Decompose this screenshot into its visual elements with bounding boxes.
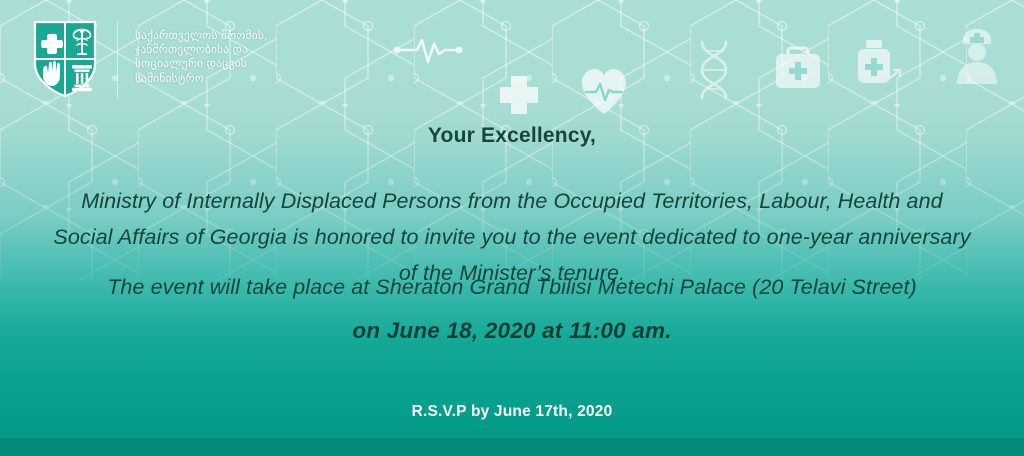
datetime-line: on June 18, 2020 at 11:00 am. — [0, 318, 1024, 344]
bottom-accent-band — [0, 438, 1024, 456]
doctor-avatar-icon — [957, 29, 997, 84]
salutation: Your Excellency, — [0, 124, 1024, 148]
ministry-header: საქართველოს შრომის, ჯანმრთელობისა და სოც… — [31, 18, 267, 100]
logo-divider — [117, 21, 118, 99]
invitation-card: საქართველოს შრომის, ჯანმრთელობისა და სოც… — [0, 0, 1024, 456]
dna-helix-icon — [702, 42, 726, 98]
medical-cross-icon — [500, 76, 538, 114]
ministry-name-georgian: საქართველოს შრომის, ჯანმრთელობისა და სოც… — [135, 29, 267, 86]
venue-line: The event will take place at Sheraton Gr… — [50, 272, 974, 302]
ecg-pulse-icon — [394, 40, 463, 62]
heartbeat-heart-icon — [582, 69, 626, 114]
rsvp-line: R.S.V.P by June 17th, 2020 — [0, 403, 1024, 421]
medicine-bottle-icon — [858, 40, 900, 83]
ministry-shield-emblem — [31, 18, 99, 100]
first-aid-bag-icon — [776, 48, 820, 88]
